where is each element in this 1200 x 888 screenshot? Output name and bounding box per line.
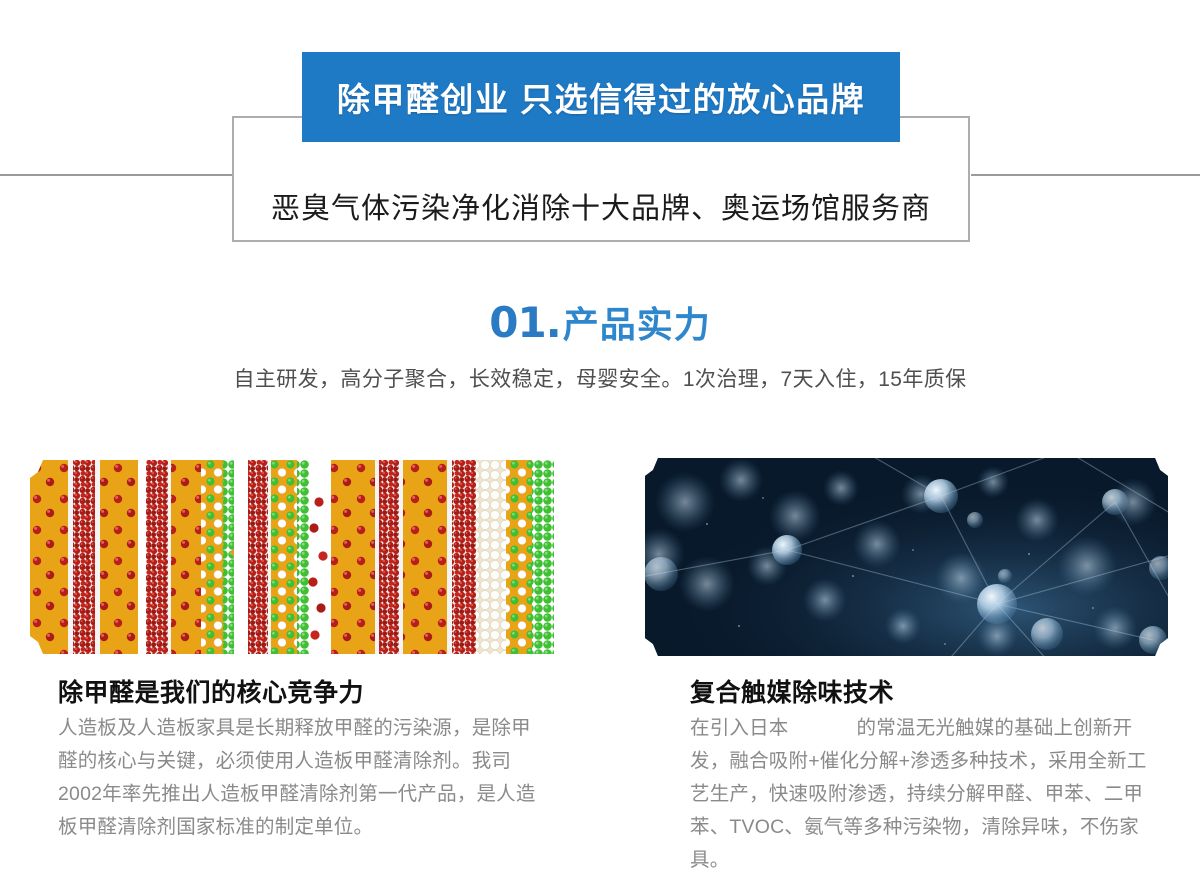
left-column-body: 人造板及人造板家具是长期释放甲醛的污染源，是除甲醛的核心与关键，必须使用人造板甲…	[58, 712, 544, 844]
right-column-heading: 复合触媒除味技术	[690, 673, 894, 709]
layered-board-formaldehyde-diagram	[30, 460, 570, 654]
product-strength-page: 恶臭气体污染净化消除十大品牌、奥运场馆服务商 除甲醛创业 只选信得过的放心品牌 …	[0, 0, 1200, 888]
section-title-text: 产品实力	[563, 304, 711, 345]
board-diagram-svg	[30, 460, 570, 654]
left-column-heading: 除甲醛是我们的核心竞争力	[58, 673, 364, 709]
header-banner: 除甲醛创业 只选信得过的放心品牌	[302, 52, 900, 142]
header-rule-right	[971, 174, 1200, 176]
header-banner-text: 除甲醛创业 只选信得过的放心品牌	[337, 73, 865, 121]
right-body-part-1: 在引入日本	[690, 717, 789, 739]
section-subtitle: 自主研发，高分子聚合，长效稳定，母婴安全。1次治理，7天入住，15年质保	[0, 363, 1200, 393]
right-body-part-2: 的常温无光触媒的基础上创新开发，融合吸附+催化分解+渗透多种技术，采用全新工艺生…	[690, 717, 1147, 871]
section-title: 01.产品实力	[0, 296, 1200, 348]
right-column-body: 在引入日本的常温无光触媒的基础上创新开发，融合吸附+催化分解+渗透多种技术，采用…	[690, 712, 1160, 877]
header-rule-left	[0, 174, 233, 176]
page-header: 恶臭气体污染净化消除十大品牌、奥运场馆服务商 除甲醛创业 只选信得过的放心品牌	[0, 0, 1200, 260]
molecular-network-image	[645, 458, 1168, 656]
section-number: 01.	[489, 298, 560, 347]
molecular-network-svg	[645, 458, 1168, 656]
